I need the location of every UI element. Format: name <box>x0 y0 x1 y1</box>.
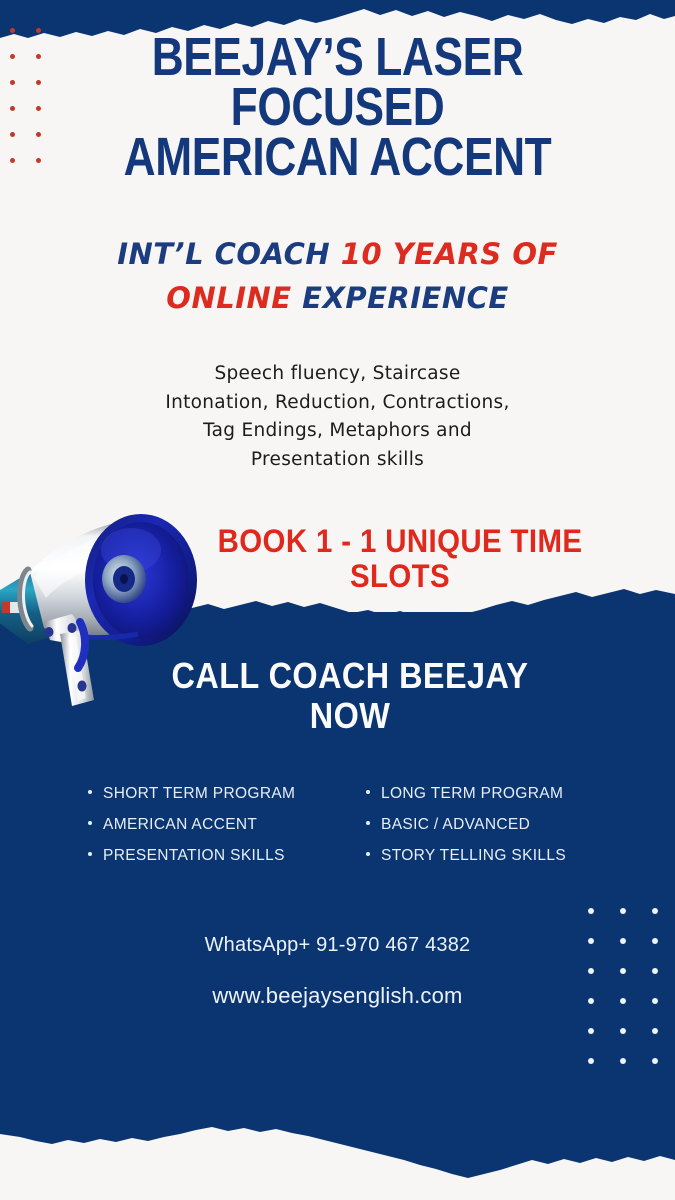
whatsapp-number[interactable]: WhatsApp+ 91-970 467 4382 <box>0 934 675 957</box>
poster-headline: BEEJAY’S LASER FOCUSED AMERICAN ACCENT <box>61 32 615 183</box>
list-item: BASIC / ADVANCED <box>366 809 596 840</box>
list-item: STORY TELLING SKILLS <box>366 840 596 871</box>
contact-info: WhatsApp+ 91-970 467 4382 www.beejayseng… <box>0 934 675 1009</box>
description-line-1: Speech fluency, Staircase <box>105 360 570 389</box>
headline-line-2: FOCUSED <box>61 82 615 132</box>
list-item: SHORT TERM PROGRAM <box>88 778 318 809</box>
features-column-left: SHORT TERM PROGRAM AMERICAN ACCENT PRESE… <box>88 778 318 871</box>
subtitle-coach-text: INT’L COACH <box>117 237 341 271</box>
features-column-right: LONG TERM PROGRAM BASIC / ADVANCED STORY… <box>366 778 596 871</box>
poster-canvas: BEEJAY’S LASER FOCUSED AMERICAN ACCENT I… <box>0 0 675 1200</box>
list-item: LONG TERM PROGRAM <box>366 778 596 809</box>
subtitle-line-2: ONLINE EXPERIENCE <box>0 276 675 320</box>
book-cta-line-1: BOOK 1 - 1 UNIQUE TIME <box>207 524 593 559</box>
list-item: PRESENTATION SKILLS <box>88 840 318 871</box>
course-topics-description: Speech fluency, Staircase Intonation, Re… <box>105 360 570 475</box>
booking-call-to-action: BOOK 1 - 1 UNIQUE TIME SLOTS <box>207 524 593 593</box>
call-cta-line-1: CALL COACH BEEJAY <box>125 656 575 696</box>
poster-subtitle: INT’L COACH 10 YEARS OF ONLINE EXPERIENC… <box>0 232 675 320</box>
website-url[interactable]: www.beejaysenglish.com <box>0 983 675 1009</box>
list-item: AMERICAN ACCENT <box>88 809 318 840</box>
subtitle-years-text: 10 YEARS OF <box>341 237 558 271</box>
description-line-2: Intonation, Reduction, Contractions, <box>105 389 570 418</box>
subtitle-experience-text: EXPERIENCE <box>292 281 509 315</box>
call-cta-line-2: NOW <box>125 696 575 736</box>
subtitle-line-1: INT’L COACH 10 YEARS OF <box>0 232 675 276</box>
book-cta-line-2: SLOTS <box>207 559 593 594</box>
subtitle-online-text: ONLINE <box>166 281 291 315</box>
description-line-3: Tag Endings, Metaphors and <box>105 417 570 446</box>
decorative-red-dot-grid <box>10 28 62 184</box>
headline-line-3: AMERICAN ACCENT <box>61 132 615 182</box>
torn-edge-bottom <box>0 1108 675 1188</box>
call-coach-call-to-action: CALL COACH BEEJAY NOW <box>125 656 575 735</box>
headline-line-1: BEEJAY’S LASER <box>61 32 615 82</box>
features-list: SHORT TERM PROGRAM AMERICAN ACCENT PRESE… <box>88 778 608 871</box>
